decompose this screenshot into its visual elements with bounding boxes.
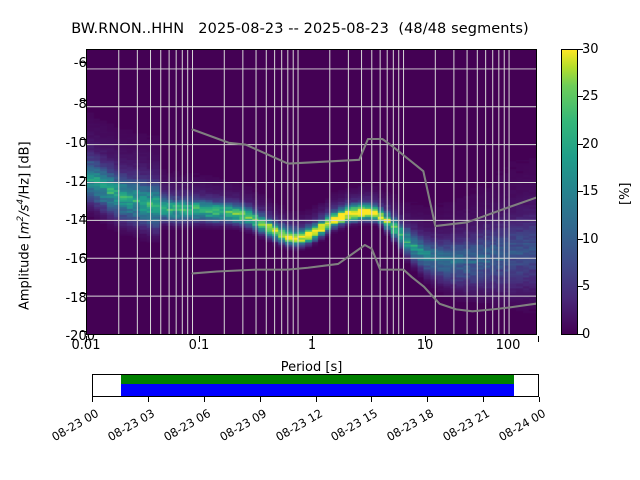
timeline-tick-label: 08-23 09 bbox=[203, 406, 269, 452]
coverage-timeline bbox=[92, 374, 539, 397]
timeline-tick-label: 08-23 00 bbox=[35, 406, 101, 452]
y-axis-label-pre: Amplitude [ bbox=[17, 234, 32, 310]
ppsd-figure: BW.RNON..HHN 2025-08-23 -- 2025-08-23 (4… bbox=[0, 0, 640, 480]
x-axis-label: Period [s] bbox=[86, 360, 537, 375]
colorbar-tick-label: 20 bbox=[582, 137, 599, 152]
colorbar-tick-label: 30 bbox=[582, 42, 599, 57]
timeline-tick-label: 08-23 03 bbox=[91, 406, 157, 452]
colorbar-tick-mark bbox=[578, 191, 583, 192]
y-axis-label-m-exp: 2 bbox=[16, 216, 26, 222]
x-tick-label: 10 bbox=[390, 338, 460, 353]
y-axis-label: Amplitude [m2/s4/Hz] [dB] bbox=[16, 141, 32, 310]
y-axis-label-s-exp: 4 bbox=[16, 199, 26, 205]
timeline-tick-mark bbox=[539, 397, 540, 402]
timeline-tick-mark bbox=[92, 397, 93, 402]
timeline-tick-mark bbox=[483, 397, 484, 402]
colorbar-tick-mark bbox=[578, 286, 583, 287]
timeline-tick-label: 08-23 21 bbox=[426, 406, 492, 452]
x-tick-label: 100 bbox=[473, 338, 543, 353]
timeline-tick-label: 08-23 18 bbox=[370, 406, 436, 452]
colorbar-tick-label: 0 bbox=[582, 327, 590, 342]
timeline-tick-mark bbox=[316, 397, 317, 402]
timeline-tick-mark bbox=[204, 397, 205, 402]
x-tick-label: 1 bbox=[277, 338, 347, 353]
y-axis-label-post: /Hz] [dB] bbox=[17, 141, 32, 199]
timeline-tick-mark bbox=[427, 397, 428, 402]
colorbar-tick-label: 10 bbox=[582, 232, 599, 247]
colorbar-tick-mark bbox=[578, 49, 583, 50]
timeline-tick-label: 08-23 12 bbox=[259, 406, 325, 452]
colorbar-tick-mark bbox=[578, 334, 583, 335]
colorbar-tick-mark bbox=[578, 239, 583, 240]
timeline-tick-label: 08-24 00 bbox=[482, 406, 548, 452]
colorbar-tick-mark bbox=[578, 96, 583, 97]
colorbar-label: [%] bbox=[618, 183, 633, 206]
x-tick-label: 0.1 bbox=[164, 338, 234, 353]
y-axis-label-m: m bbox=[17, 222, 32, 235]
page-title: BW.RNON..HHN 2025-08-23 -- 2025-08-23 (4… bbox=[0, 21, 600, 37]
colorbar bbox=[561, 49, 578, 335]
noise-model-curves bbox=[87, 50, 536, 334]
timeline-tick-label: 08-23 15 bbox=[314, 406, 380, 452]
timeline-tick-mark bbox=[260, 397, 261, 402]
timeline-tick-mark bbox=[371, 397, 372, 402]
coverage-band-green bbox=[121, 375, 514, 384]
colorbar-tick-label: 25 bbox=[582, 89, 599, 104]
ppsd-plot-area bbox=[86, 49, 537, 335]
timeline-tick-mark bbox=[148, 397, 149, 402]
colorbar-tick-label: 5 bbox=[582, 279, 590, 294]
timeline-tick-label: 08-23 06 bbox=[147, 406, 213, 452]
coverage-band-blue bbox=[121, 384, 514, 396]
colorbar-tick-label: 15 bbox=[582, 184, 599, 199]
colorbar-tick-mark bbox=[578, 144, 583, 145]
y-axis-label-slash-s: /s bbox=[17, 205, 32, 216]
x-tick-label: 0.01 bbox=[51, 338, 121, 353]
